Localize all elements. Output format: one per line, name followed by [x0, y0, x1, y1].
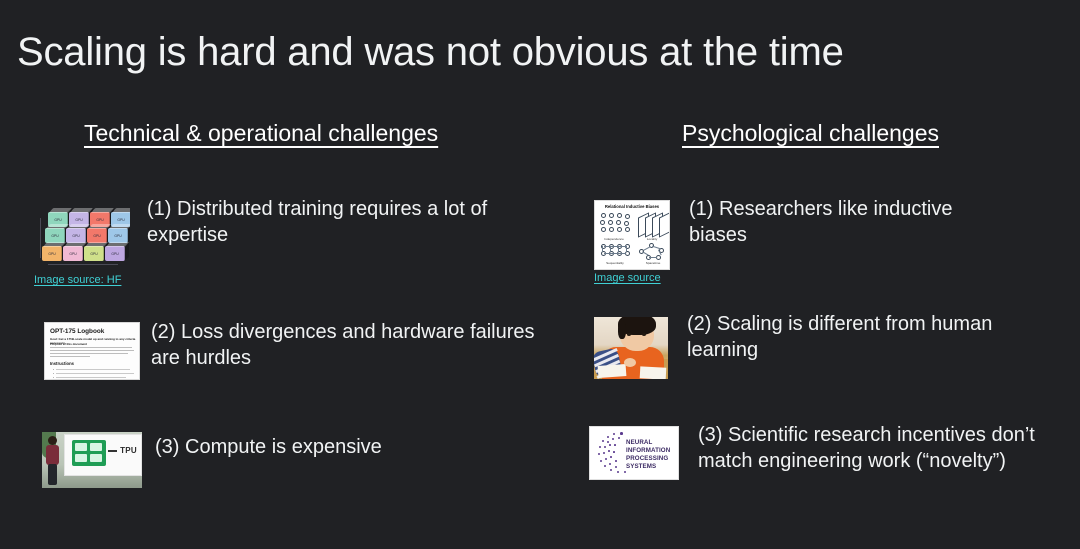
panel-spacetime	[637, 243, 667, 261]
list-item-text: (1) Researchers like inductive biases	[689, 196, 1009, 248]
list-item-text: (2) Scaling is different from human lear…	[687, 311, 997, 363]
child-eye	[627, 333, 631, 336]
list-item: NEURAL INFORMATION PROCESSING SYSTEMS (3…	[589, 426, 1059, 480]
arrow-icon	[108, 450, 117, 452]
page-title: Scaling is hard and was not obvious at t…	[17, 30, 844, 75]
figure-title: Relational Inductive Biases	[595, 204, 669, 209]
tpu-label: TPU	[120, 446, 137, 455]
column-heading-technical: Technical & operational challenges	[34, 120, 554, 147]
thumbnail-block	[594, 317, 668, 379]
child-eye	[642, 333, 646, 336]
list-item-text: (1) Distributed training requires a lot …	[147, 196, 517, 248]
logo-text-line: NEURAL	[626, 439, 652, 446]
list-item-text: (3) Scientific research incentives don’t…	[698, 422, 1048, 474]
column-heading-psychological: Psychological challenges	[588, 120, 1058, 147]
logo-text-line: PROCESSING	[626, 455, 668, 462]
child-hair-side	[618, 321, 626, 339]
relational-inductive-biases-thumbnail: Relational Inductive Biases Independence…	[594, 200, 670, 270]
thumbnail-block: OPT-175 Logbook Goal: Get a 175B-scale m…	[44, 322, 140, 380]
axis-line-vertical	[40, 218, 41, 258]
thumbnail-block: TPU	[42, 432, 142, 488]
logo-text-line: INFORMATION	[626, 447, 670, 454]
image-source-link[interactable]: Image source	[594, 272, 670, 285]
thumbnail-block: GPU GPU GPU GPU GPU GPU GPU GPU GPU GPU …	[34, 200, 130, 287]
worksheet	[640, 366, 667, 379]
speaker-figure	[44, 436, 62, 486]
panel-locality	[637, 213, 667, 237]
slide-canvas: Scaling is hard and was not obvious at t…	[0, 0, 1080, 549]
neurips-logo-thumbnail: NEURAL INFORMATION PROCESSING SYSTEMS	[589, 426, 679, 480]
list-item: (2) Scaling is different from human lear…	[594, 317, 1054, 379]
opt-logbook-thumbnail: OPT-175 Logbook Goal: Get a 175B-scale m…	[44, 322, 140, 380]
thumbnail-block: Relational Inductive Biases Independence…	[594, 200, 670, 285]
panel-independence	[599, 212, 631, 236]
list-item: OPT-175 Logbook Goal: Get a 175B-scale m…	[44, 322, 564, 380]
panel-label: Spacetime	[616, 261, 670, 265]
doc-section-heading: Instructions	[50, 361, 74, 366]
list-item: Relational Inductive Biases Independence…	[594, 200, 1054, 285]
panel-label: Locality	[615, 237, 670, 241]
doc-title: OPT-175 Logbook	[50, 328, 104, 335]
gpu-grid: GPU GPU GPU GPU GPU GPU GPU GPU GPU GPU …	[40, 206, 126, 266]
thumbnail-block: NEURAL INFORMATION PROCESSING SYSTEMS	[589, 426, 679, 480]
column-psychological: Psychological challenges	[588, 120, 1058, 147]
doc-meta-line: Purpose of this document	[50, 342, 87, 346]
column-technical: Technical & operational challenges	[34, 120, 554, 147]
gpu-cube-grid-thumbnail: GPU GPU GPU GPU GPU GPU GPU GPU GPU GPU …	[34, 200, 130, 272]
list-item: GPU GPU GPU GPU GPU GPU GPU GPU GPU GPU …	[34, 200, 554, 287]
logo-text-line: SYSTEMS	[626, 463, 656, 470]
image-source-link[interactable]: Image source: HF	[34, 274, 130, 287]
worksheet	[598, 364, 627, 378]
tpu-talk-thumbnail: TPU	[42, 432, 142, 488]
child-learning-photo-thumbnail	[594, 317, 668, 379]
tpu-chip-graphic	[72, 440, 106, 466]
axis-line-horizontal	[48, 264, 118, 265]
panel-sequentiality	[599, 244, 631, 262]
child-hand	[624, 358, 636, 367]
list-item-text: (2) Loss divergences and hardware failur…	[151, 319, 541, 371]
list-item: TPU (3) Compute is expensive	[42, 432, 562, 488]
list-item-text: (3) Compute is expensive	[155, 434, 485, 460]
